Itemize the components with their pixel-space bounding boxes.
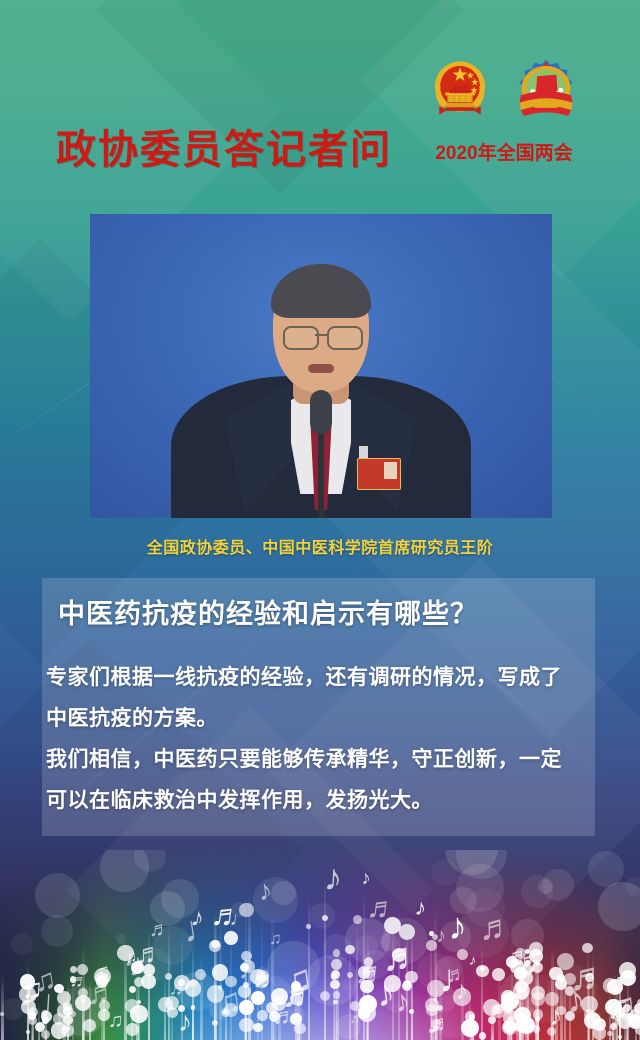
eyeglass-left: [283, 326, 319, 350]
poster-root: 政协委员答记者问: [0, 0, 640, 1040]
badge-portrait: [384, 462, 397, 479]
answer-block: 专家们根据一线抗疫的经验，还有调研的情况，写成了 中医抗疫的方案。 我们相信，中…: [46, 657, 594, 821]
answer-line: 中医抗疫的方案。: [46, 698, 594, 739]
microphone-head: [310, 390, 332, 434]
photo-caption: 全国政协委员、中国中医科学院首席研究员王阶: [0, 534, 640, 558]
eyeglass-right: [327, 326, 363, 350]
center-glow: [0, 870, 640, 1040]
eyeglass-bridge: [315, 334, 327, 336]
national-emblem-china-icon: [422, 57, 498, 119]
mouth: [308, 364, 334, 373]
answer-line: 可以在临床救治中发挥作用，发扬光大。: [46, 780, 594, 821]
answer-line: 我们相信，中医药只要能够传承精华，守正创新，一定: [46, 739, 594, 780]
page-title: 政协委员答记者问: [56, 117, 392, 175]
emblem-group: [415, 58, 590, 118]
speaker-photo: [90, 214, 552, 518]
question-heading: 中医药抗疫的经验和启示有哪些？: [58, 592, 478, 631]
cppcc-emblem-icon: [508, 57, 584, 119]
poster-header: 政协委员答记者问: [0, 0, 640, 200]
delegate-badge: [357, 458, 401, 490]
year-label: 2020年全国两会: [415, 138, 593, 165]
music-decoration-band: ♩♪♬♬♬♪♩♬♫♪♩♪♫♬♬♫♬♪♩♪♪♬♩♬♫♬♬♬♪♬♫♪♪♪♪♫♩♬♬♪…: [0, 850, 640, 1040]
answer-line: 专家们根据一线抗疫的经验，还有调研的情况，写成了: [46, 657, 594, 698]
